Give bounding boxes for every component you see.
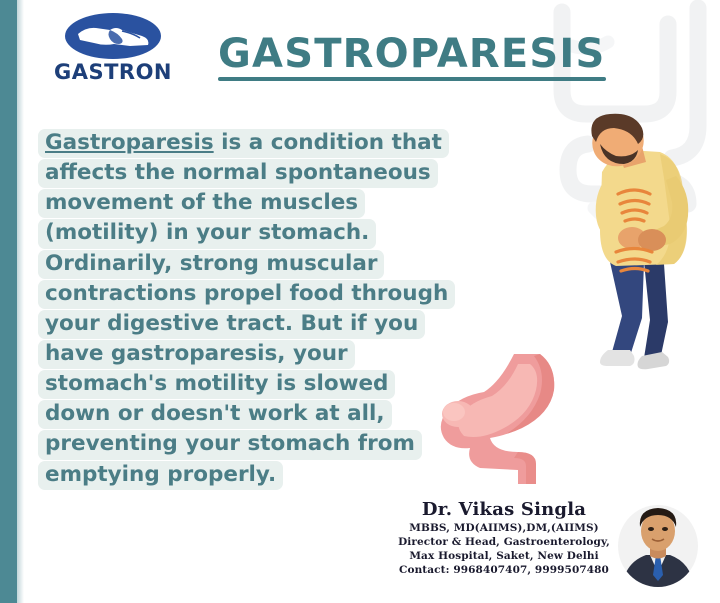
description-line-text: Ordinarily, strong muscular	[45, 251, 377, 276]
description-line: have gastroparesis, your	[38, 340, 355, 369]
description-line: stomach's motility is slowed	[38, 370, 395, 399]
description-line-text: (motility) in your stomach.	[45, 220, 369, 245]
doctor-designation: Director & Head, Gastroenterology,	[396, 535, 612, 549]
page-title-text: GASTROPARESIS	[218, 34, 606, 74]
description-line-text: your digestive tract. But if you	[45, 311, 418, 336]
description-line: emptying properly.	[38, 461, 283, 490]
description-line-text: preventing your stomach from	[45, 431, 415, 456]
left-accent-bar	[0, 0, 17, 603]
doctor-portrait-photo-icon	[612, 503, 704, 589]
description-line: affects the normal spontaneous	[38, 159, 438, 188]
doctor-qualifications: MBBS, MD(AIIMS),DM,(AIIMS)	[396, 521, 612, 535]
doctor-credit: Dr. Vikas Singla MBBS, MD(AIIMS),DM,(AII…	[396, 500, 612, 577]
description-line-text: down or doesn't work at all,	[45, 401, 385, 426]
description-line-text: contractions propel food through	[45, 281, 448, 306]
handshake-oval-logo-icon	[64, 12, 162, 60]
left-accent-bar-shadow	[17, 0, 24, 603]
description-line-text: affects the normal spontaneous	[45, 160, 431, 185]
page-title-underline	[218, 77, 606, 81]
description-line: Gastroparesis is a condition that	[38, 129, 449, 158]
description-line: contractions propel food through	[38, 280, 455, 309]
description-line: down or doesn't work at all,	[38, 400, 392, 429]
doctor-name: Dr. Vikas Singla	[396, 500, 612, 521]
description-line-text: emptying properly.	[45, 462, 276, 487]
description-line: Ordinarily, strong muscular	[38, 250, 384, 279]
doctor-contact: Contact: 9968407407, 9999507480	[396, 563, 612, 577]
description-line-text: stomach's motility is slowed	[45, 371, 388, 396]
brand-name: GASTRON	[48, 62, 178, 83]
gastroparesis-infographic: GASTRON GASTROPARESIS Gastroparesis is a…	[0, 0, 720, 603]
page-title: GASTROPARESIS	[218, 34, 606, 81]
description-line: preventing your stomach from	[38, 430, 422, 459]
description-line: your digestive tract. But if you	[38, 310, 425, 339]
description-line: movement of the muscles	[38, 189, 365, 218]
brand-logo: GASTRON	[48, 12, 178, 102]
description-line-text: movement of the muscles	[45, 190, 358, 215]
description-line: (motility) in your stomach.	[38, 219, 376, 248]
description-line-text: is a condition that	[214, 130, 442, 155]
man-holding-stomach-pain-icon	[556, 112, 716, 374]
doctor-hospital: Max Hospital, Saket, New Delhi	[396, 549, 612, 563]
description-text: Gastroparesis is a condition thataffects…	[38, 129, 458, 491]
description-keyword: Gastroparesis	[45, 130, 214, 155]
description-line-text: have gastroparesis, your	[45, 341, 348, 366]
